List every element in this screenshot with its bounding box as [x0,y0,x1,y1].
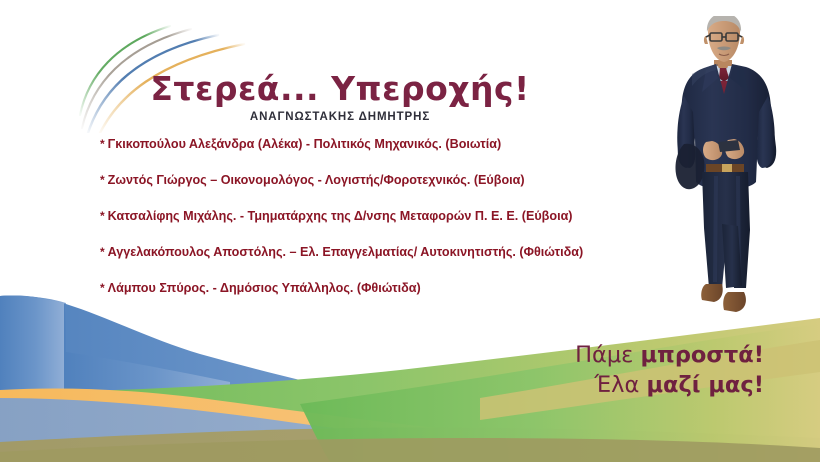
slogan-line-1-light: Πάμε [575,342,640,368]
slogan-line-2-light: Έλα [594,372,646,398]
wave-blue-slope [0,295,64,352]
wave-blue-upper [0,300,520,462]
asterisk-bullet-icon: * [100,210,108,222]
candidate-list: *Γκικοπούλου Αλεξάνδρα (Αλέκα) - Πολιτικ… [100,138,700,318]
shoe-left [701,284,723,302]
list-item-label: Κατσαλίφης Μιχάλης. - Τμηματάρχης της Δ/… [108,210,573,223]
campaign-poster: Στερεά... Υπεροχής! ΑΝΑΓΝΩΣΤΑΚΗΣ ΔΗΜΗΤΡΗ… [0,0,820,462]
wave-olive-base [0,427,820,462]
phone [718,140,740,152]
page-title: Στερεά... Υπεροχής! [120,72,560,107]
wave-blue-ridge [0,296,520,462]
slogan-block: Πάμε μπροστά! Έλα μαζί μας! [575,340,764,400]
list-item-label: Αγγελακόπουλος Αποστόλης. – Ελ. Επαγγελμ… [108,246,584,259]
asterisk-bullet-icon: * [100,174,108,186]
list-item: *Κατσαλίφης Μιχάλης. - Τμηματάρχης της Δ… [100,210,700,246]
headline-block: Στερεά... Υπεροχής! ΑΝΑΓΝΩΣΤΑΚΗΣ ΔΗΜΗΤΡΗ… [120,72,560,123]
wave-orange [0,388,520,462]
wave-olive-foreground [0,438,820,462]
asterisk-bullet-icon: * [100,282,108,294]
list-item: *Ζωντός Γιώργος – Οικονομολόγος - Λογιστ… [100,174,700,210]
slogan-line-2-bold: μαζί μας! [646,372,764,398]
belt-buckle [722,164,732,172]
candidate-portrait-photo [662,16,812,328]
candidate-name-subtitle: ΑΝΑΓΝΩΣΤΑΚΗΣ ΔΗΜΗΤΡΗΣ [120,111,560,123]
list-item-label: Ζωντός Γιώργος – Οικονομολόγος - Λογιστή… [108,174,525,187]
asterisk-bullet-icon: * [100,138,108,150]
list-item: *Λάμπου Σπύρος. - Δημόσιος Υπάλληλος. (Φ… [100,282,700,318]
list-item: *Γκικοπούλου Αλεξάνδρα (Αλέκα) - Πολιτικ… [100,138,700,174]
asterisk-bullet-icon: * [100,246,108,258]
slogan-line-2: Έλα μαζί μας! [575,370,764,400]
wave-blue-shoulder [64,304,230,462]
slogan-line-1: Πάμε μπροστά! [575,340,764,370]
list-item: *Αγγελακόπουλος Αποστόλης. – Ελ. Επαγγελ… [100,246,700,282]
list-item-label: Λάμπου Σπύρος. - Δημόσιος Υπάλληλος. (Φθ… [108,282,421,295]
wave-blue-lower-sliver [0,398,520,462]
slogan-line-1-bold: μπροστά! [640,342,764,368]
wave-blue-step [0,297,66,462]
list-item-label: Γκικοπούλου Αλεξάνδρα (Αλέκα) - Πολιτικό… [108,138,502,151]
wave-blue-tall-left [0,295,64,462]
shoe-right [723,292,746,312]
